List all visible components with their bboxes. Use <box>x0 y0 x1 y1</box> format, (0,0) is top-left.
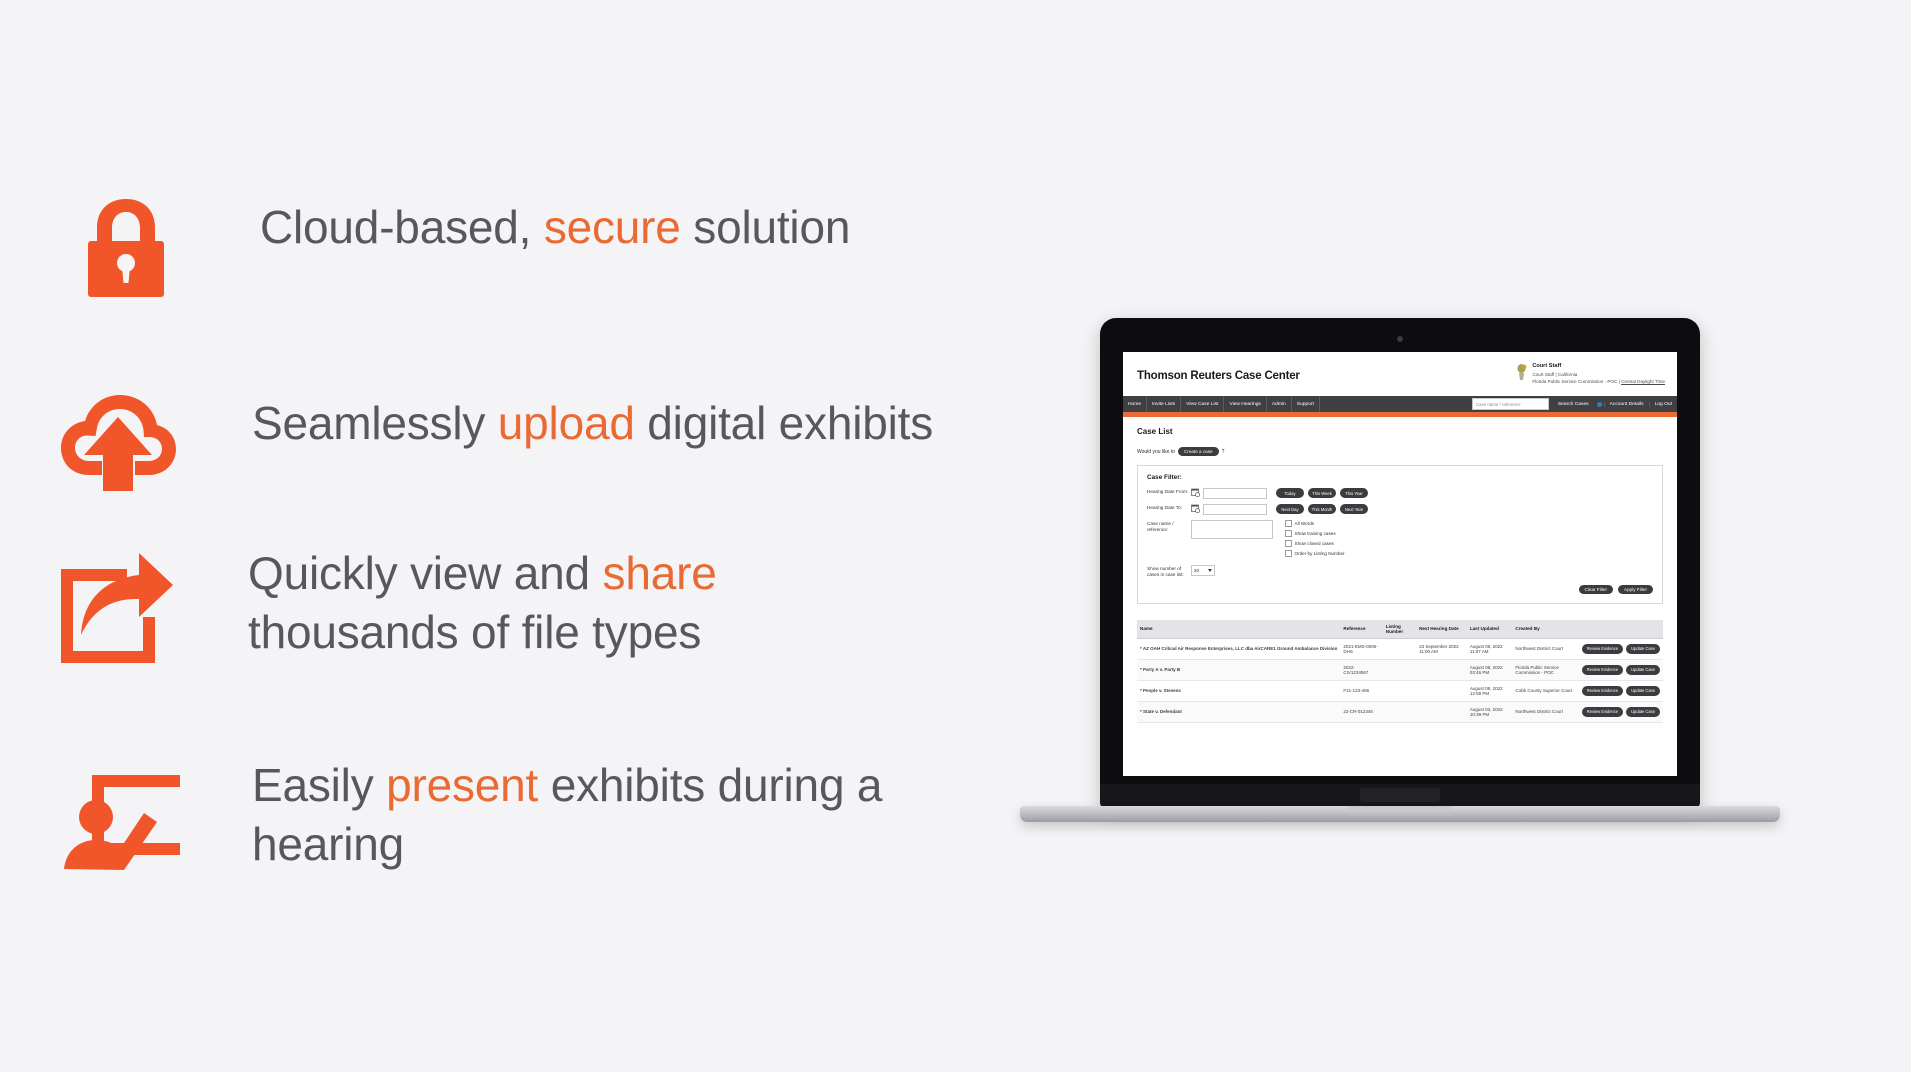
apply-filter-button[interactable]: Apply Filter <box>1618 585 1653 594</box>
checkbox-box[interactable] <box>1285 540 1292 547</box>
cell-name: * People v. Stevens <box>1137 680 1340 701</box>
page-size-value: 20 <box>1194 568 1199 573</box>
nav-item-home[interactable]: Home <box>1123 396 1147 412</box>
search-cases-button[interactable]: Search Cases <box>1553 402 1594 407</box>
checkbox-order-by-listing-number[interactable]: Order by Listing Number <box>1285 550 1345 557</box>
cell-listing-number <box>1383 680 1416 701</box>
cell-name: * State v. Defendant <box>1137 701 1340 722</box>
update-case-button[interactable]: Update Case <box>1626 665 1660 675</box>
feature-text: Cloud-based, secure solution <box>260 198 850 257</box>
nav-item-support[interactable]: Support <box>1292 396 1320 412</box>
cell-reference: F21-123-456 <box>1340 680 1382 701</box>
create-case-button[interactable]: Create a case <box>1178 447 1219 456</box>
nav-item-account-details[interactable]: Account Details <box>1604 402 1649 407</box>
checkbox-box[interactable] <box>1285 520 1292 527</box>
filter-actions: Clear Filter Apply Filter <box>1147 585 1653 594</box>
checkbox-label: Order by Listing Number <box>1295 551 1345 556</box>
presenter-icon <box>52 762 184 880</box>
cell-next-hearing-date: 23 September 2022 11:00 AM <box>1416 638 1467 659</box>
filter-row-case-name: Case name / reference: All Words Show tr… <box>1147 520 1653 560</box>
checkbox-box[interactable] <box>1285 530 1292 537</box>
label-hearing-date-to: Hearing Date To: <box>1147 504 1191 511</box>
column-actions <box>1579 620 1663 639</box>
review-evidence-button[interactable]: Review Evidence <box>1582 644 1623 654</box>
checkbox-label: All Words <box>1295 521 1315 526</box>
table-row[interactable]: * AZ OAH Critical Air Response Enterpris… <box>1137 638 1663 659</box>
cell-listing-number <box>1383 659 1416 680</box>
label-case-name: Case name / reference: <box>1147 520 1191 534</box>
cell-reference: 22-CR-012345 <box>1340 701 1382 722</box>
laptop-base <box>1020 806 1780 822</box>
date-from-input[interactable] <box>1203 488 1267 499</box>
clear-filter-button[interactable]: Clear Filter <box>1579 585 1613 594</box>
cell-created-by: Florida Public Service Commission - POC <box>1512 659 1578 680</box>
cell-last-updated: August 03, 2022 10:39 PM <box>1467 701 1513 722</box>
feature-text: Seamlessly upload digital exhibits <box>252 394 933 453</box>
laptop-lid: Thomson Reuters Case Center Court Staff … <box>1100 318 1700 808</box>
case-name-input[interactable] <box>1191 520 1273 539</box>
this-week-button[interactable]: This Week <box>1308 488 1336 498</box>
case-filter-panel: Case Filter: Hearing Date From: <box>1137 465 1663 604</box>
nav-item-view-case-list[interactable]: View Case List <box>1181 396 1224 412</box>
feature-list: Cloud-based, secure solution Seamlessly … <box>0 0 1060 1072</box>
user-info: Court Staff Court Staff | California Flo… <box>1516 362 1665 385</box>
cell-reference: 2022-CIV1234567 <box>1340 659 1382 680</box>
filter-title: Case Filter: <box>1147 474 1653 481</box>
cell-next-hearing-date <box>1416 701 1467 722</box>
table-row[interactable]: * People v. Stevens F21-123-456 August 0… <box>1137 680 1663 701</box>
table-row[interactable]: * State v. Defendant 22-CR-012345 August… <box>1137 701 1663 722</box>
update-case-button[interactable]: Update Case <box>1626 644 1660 654</box>
laptop-screen: Thomson Reuters Case Center Court Staff … <box>1123 352 1677 776</box>
column-created-by[interactable]: Created By <box>1512 620 1578 639</box>
feature-item-upload: Seamlessly upload digital exhibits <box>52 382 933 500</box>
cell-created-by: Northwest District Court <box>1512 701 1578 722</box>
cell-last-updated: August 08, 2022 12:59 PM <box>1467 680 1513 701</box>
this-month-button[interactable]: This Month <box>1308 504 1336 514</box>
laptop-mockup: Thomson Reuters Case Center Court Staff … <box>1020 310 1820 830</box>
cell-name: * Party A v. Party B <box>1137 659 1340 680</box>
cell-actions: Review Evidence Update Case <box>1579 680 1663 701</box>
app-title: Thomson Reuters Case Center <box>1137 370 1300 382</box>
column-reference[interactable]: Reference <box>1340 620 1382 639</box>
feature-item-present: Easily present exhibits during a hearing <box>52 762 882 880</box>
create-prefix: Would you like to <box>1137 449 1175 455</box>
cell-next-hearing-date <box>1416 659 1467 680</box>
update-case-button[interactable]: Update Case <box>1626 707 1660 717</box>
filter-row-page-size: Show number of cases in case list: 20 <box>1147 565 1653 579</box>
cell-reference: 2021-EMS-0005-DHS <box>1340 638 1382 659</box>
quick-dates-row1: Today This Week This Year <box>1276 488 1368 498</box>
column-name[interactable]: Name <box>1137 620 1340 639</box>
column-next-hearing-date[interactable]: Next Hearing Date <box>1416 620 1467 639</box>
next-year-button[interactable]: Next Year <box>1340 504 1368 514</box>
cell-listing-number <box>1383 638 1416 659</box>
nav-spacer <box>1320 396 1468 412</box>
review-evidence-button[interactable]: Review Evidence <box>1582 665 1623 675</box>
timezone-link[interactable]: Central Daylight Time <box>1621 379 1665 384</box>
app-content: Case List Would you like to Create a cas… <box>1123 417 1677 723</box>
user-role: Court Staff | California <box>1532 371 1665 378</box>
review-evidence-button[interactable]: Review Evidence <box>1582 707 1623 717</box>
cell-last-updated: August 08, 2022 11:07 AM <box>1467 638 1513 659</box>
cell-actions: Review Evidence Update Case <box>1579 659 1663 680</box>
feature-text: Quickly view and share thousands of file… <box>248 544 717 662</box>
nav-item-admin[interactable]: Admin <box>1267 396 1292 412</box>
share-icon <box>48 548 180 666</box>
main-navbar: Home Invite Lists View Case List View He… <box>1123 396 1677 412</box>
calendar-icon[interactable] <box>1191 504 1200 513</box>
app-header: Thomson Reuters Case Center Court Staff … <box>1123 352 1677 396</box>
filter-row-date-from: Hearing Date From: Today <box>1147 488 1653 499</box>
cell-next-hearing-date <box>1416 680 1467 701</box>
checkbox-show-closed-cases[interactable]: Show closed cases <box>1285 540 1345 547</box>
user-avatar-icon <box>1516 364 1527 380</box>
case-list-table: Name Reference Listing Number Next Heari… <box>1137 620 1663 723</box>
date-to-input[interactable] <box>1203 504 1267 515</box>
checkbox-label: Show training cases <box>1295 531 1336 536</box>
page-title: Case List <box>1137 427 1663 436</box>
cell-created-by: Northwest District Court <box>1512 638 1578 659</box>
cell-actions: Review Evidence Update Case <box>1579 701 1663 722</box>
nav-item-log-out[interactable]: Log Out <box>1649 402 1677 407</box>
feature-item-secure: Cloud-based, secure solution <box>60 188 850 306</box>
cell-name: * AZ OAH Critical Air Response Enterpris… <box>1137 638 1340 659</box>
cloud-upload-icon <box>52 382 184 500</box>
search-area: Case name / reference <box>1468 398 1553 410</box>
search-input[interactable]: Case name / reference <box>1472 398 1549 410</box>
label-show-number: Show number of cases in case list: <box>1147 565 1191 579</box>
feature-item-share: Quickly view and share thousands of file… <box>48 548 717 666</box>
case-center-app: Thomson Reuters Case Center Court Staff … <box>1123 352 1677 776</box>
feature-text: Easily present exhibits during a hearing <box>252 756 882 874</box>
checkbox-label: Show closed cases <box>1295 541 1334 546</box>
quick-dates-row2: Next Day This Month Next Year <box>1276 504 1368 514</box>
table-row[interactable]: * Party A v. Party B 2022-CIV1234567 Aug… <box>1137 659 1663 680</box>
user-name: Court Staff <box>1532 362 1665 371</box>
column-last-updated[interactable]: Last Updated <box>1467 620 1513 639</box>
padlock-icon <box>60 188 192 306</box>
column-listing-number[interactable]: Listing Number <box>1383 620 1416 639</box>
cell-created-by: Cobb County Superior Court <box>1512 680 1578 701</box>
filter-checkbox-group: All Words Show training cases Show close… <box>1285 520 1345 560</box>
cell-actions: Review Evidence Update Case <box>1579 638 1663 659</box>
update-case-button[interactable]: Update Case <box>1626 686 1660 696</box>
checkbox-all-words[interactable]: All Words <box>1285 520 1345 527</box>
today-button[interactable]: Today <box>1276 488 1304 498</box>
cell-listing-number <box>1383 701 1416 722</box>
create-case-row: Would you like to Create a case ? <box>1137 447 1663 456</box>
checkbox-box[interactable] <box>1285 550 1292 557</box>
create-suffix: ? <box>1222 449 1225 455</box>
webcam-icon <box>1397 336 1403 342</box>
label-hearing-date-from: Hearing Date From: <box>1147 488 1191 495</box>
page-size-select[interactable]: 20 <box>1191 565 1215 576</box>
filter-row-date-to: Hearing Date To: Next Day <box>1147 504 1653 515</box>
chevron-down-icon <box>1208 569 1212 572</box>
cell-last-updated: August 08, 2022 03:46 PM <box>1467 659 1513 680</box>
nav-item-view-hearings[interactable]: View Hearings <box>1224 396 1266 412</box>
next-day-button[interactable]: Next Day <box>1276 504 1304 514</box>
checkbox-show-training-cases[interactable]: Show training cases <box>1285 530 1345 537</box>
this-year-button[interactable]: This Year <box>1340 488 1368 498</box>
review-evidence-button[interactable]: Review Evidence <box>1582 686 1623 696</box>
info-icon[interactable] <box>1597 402 1602 407</box>
table-header-row: Name Reference Listing Number Next Heari… <box>1137 620 1663 639</box>
user-org: Florida Public Service Commission - POC … <box>1532 378 1665 385</box>
calendar-icon[interactable] <box>1191 488 1200 497</box>
nav-item-invite-lists[interactable]: Invite Lists <box>1147 396 1181 412</box>
